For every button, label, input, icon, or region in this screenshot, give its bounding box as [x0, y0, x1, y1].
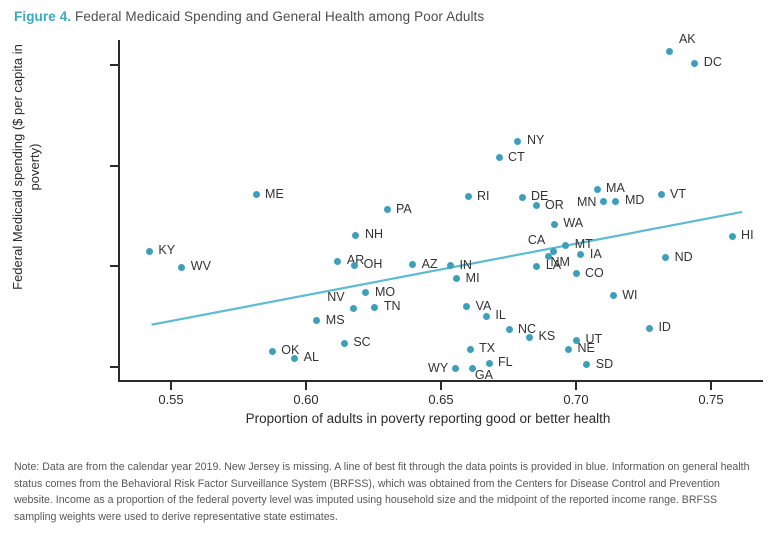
y-axis-title: Federal Medicaid spending ($ per capita …: [9, 37, 43, 297]
scatter-point[interactable]: [646, 325, 653, 332]
scatter-point-label: WV: [191, 260, 211, 272]
scatter-point-label: SC: [353, 336, 370, 348]
scatter-point-label: AZ: [422, 258, 438, 270]
scatter-point-label: ME: [265, 188, 284, 200]
scatter-point[interactable]: [662, 254, 669, 261]
scatter-points-layer: AKDCNYCTVTMAMDMNDEORRIMEPAWANHHIKYMTCANM…: [0, 0, 768, 400]
scatter-point[interactable]: [666, 48, 673, 55]
scatter-point-label: MS: [326, 314, 345, 326]
scatter-point[interactable]: [658, 191, 665, 198]
scatter-point[interactable]: [486, 360, 493, 367]
scatter-point-label: HI: [741, 229, 754, 241]
scatter-point-label: ND: [675, 251, 693, 263]
scatter-point[interactable]: [467, 346, 474, 353]
scatter-point-label: ID: [658, 321, 671, 333]
scatter-point[interactable]: [463, 303, 470, 310]
scatter-point-label: RI: [477, 190, 490, 202]
scatter-point-label: MD: [625, 194, 644, 206]
scatter-point[interactable]: [341, 340, 348, 347]
scatter-point[interactable]: [453, 275, 460, 282]
scatter-point[interactable]: [447, 262, 454, 269]
figure-note: Note: Data are from the calendar year 20…: [14, 459, 756, 525]
scatter-point-label: MO: [375, 286, 395, 298]
scatter-point-label: SD: [596, 358, 613, 370]
scatter-point-label: NY: [527, 134, 544, 146]
scatter-point[interactable]: [334, 258, 341, 265]
scatter-point[interactable]: [483, 313, 490, 320]
scatter-point[interactable]: [350, 305, 357, 312]
scatter-point[interactable]: [526, 334, 533, 341]
scatter-point[interactable]: [533, 202, 540, 209]
scatter-point[interactable]: [384, 206, 391, 213]
x-axis-title: Proportion of adults in poverty reportin…: [178, 410, 678, 428]
scatter-point-label: NH: [365, 228, 383, 240]
scatter-point[interactable]: [691, 60, 698, 67]
scatter-point[interactable]: [577, 251, 584, 258]
scatter-point-label: KS: [539, 330, 556, 342]
scatter-point[interactable]: [409, 261, 416, 268]
scatter-point-label: MI: [466, 272, 480, 284]
scatter-point-label: OK: [281, 344, 299, 356]
scatter-point[interactable]: [550, 248, 557, 255]
scatter-point-label: NC: [518, 323, 536, 335]
scatter-point-label: AL: [304, 351, 319, 363]
scatter-point[interactable]: [452, 365, 459, 372]
scatter-point-label: MA: [606, 182, 625, 194]
scatter-point[interactable]: [362, 289, 369, 296]
scatter-point-label: NV: [327, 291, 344, 303]
scatter-point[interactable]: [533, 263, 540, 270]
scatter-point-label: LA: [546, 259, 561, 271]
scatter-point[interactable]: [562, 242, 569, 249]
scatter-point-label: VA: [476, 300, 492, 312]
scatter-point[interactable]: [496, 154, 503, 161]
scatter-point[interactable]: [612, 198, 619, 205]
scatter-point[interactable]: [352, 232, 359, 239]
scatter-point[interactable]: [729, 233, 736, 240]
scatter-point[interactable]: [573, 270, 580, 277]
scatter-point[interactable]: [371, 304, 378, 311]
scatter-point-label: TX: [479, 342, 495, 354]
scatter-point[interactable]: [551, 221, 558, 228]
scatter-point[interactable]: [514, 138, 521, 145]
scatter-point-label: KY: [158, 244, 175, 256]
scatter-point-label: FL: [498, 356, 513, 368]
scatter-point[interactable]: [146, 248, 153, 255]
scatter-point-label: CO: [585, 267, 604, 279]
scatter-point-label: AK: [679, 33, 696, 45]
scatter-point-label: WA: [563, 217, 583, 229]
scatter-point[interactable]: [313, 317, 320, 324]
scatter-point-label: WI: [622, 289, 637, 301]
scatter-point-label: IA: [590, 248, 602, 260]
scatter-point-label: OR: [545, 199, 564, 211]
scatter-point[interactable]: [351, 262, 358, 269]
scatter-point-label: TN: [384, 300, 401, 312]
scatter-point[interactable]: [465, 193, 472, 200]
scatter-point-label: WY: [428, 362, 448, 374]
scatter-point-label: IN: [459, 259, 472, 271]
scatter-point[interactable]: [610, 292, 617, 299]
scatter-point[interactable]: [269, 348, 276, 355]
scatter-point-label: CT: [508, 151, 525, 163]
scatter-point-label: GA: [475, 369, 493, 381]
scatter-point-label: IL: [495, 309, 505, 321]
scatter-point-label: DC: [704, 56, 722, 68]
scatter-point[interactable]: [594, 186, 601, 193]
scatter-point[interactable]: [178, 264, 185, 271]
scatter-point[interactable]: [506, 326, 513, 333]
scatter-point[interactable]: [253, 191, 260, 198]
scatter-point[interactable]: [519, 194, 526, 201]
scatter-point-label: OH: [364, 258, 383, 270]
scatter-point-label: NE: [577, 342, 594, 354]
scatter-point[interactable]: [600, 198, 607, 205]
scatter-point-label: CA: [528, 234, 545, 246]
scatter-point-label: PA: [396, 203, 412, 215]
scatter-point-label: MN: [577, 196, 596, 208]
scatter-point[interactable]: [583, 361, 590, 368]
scatter-point[interactable]: [291, 355, 298, 362]
scatter-point-label: VT: [670, 188, 686, 200]
scatter-point[interactable]: [565, 346, 572, 353]
